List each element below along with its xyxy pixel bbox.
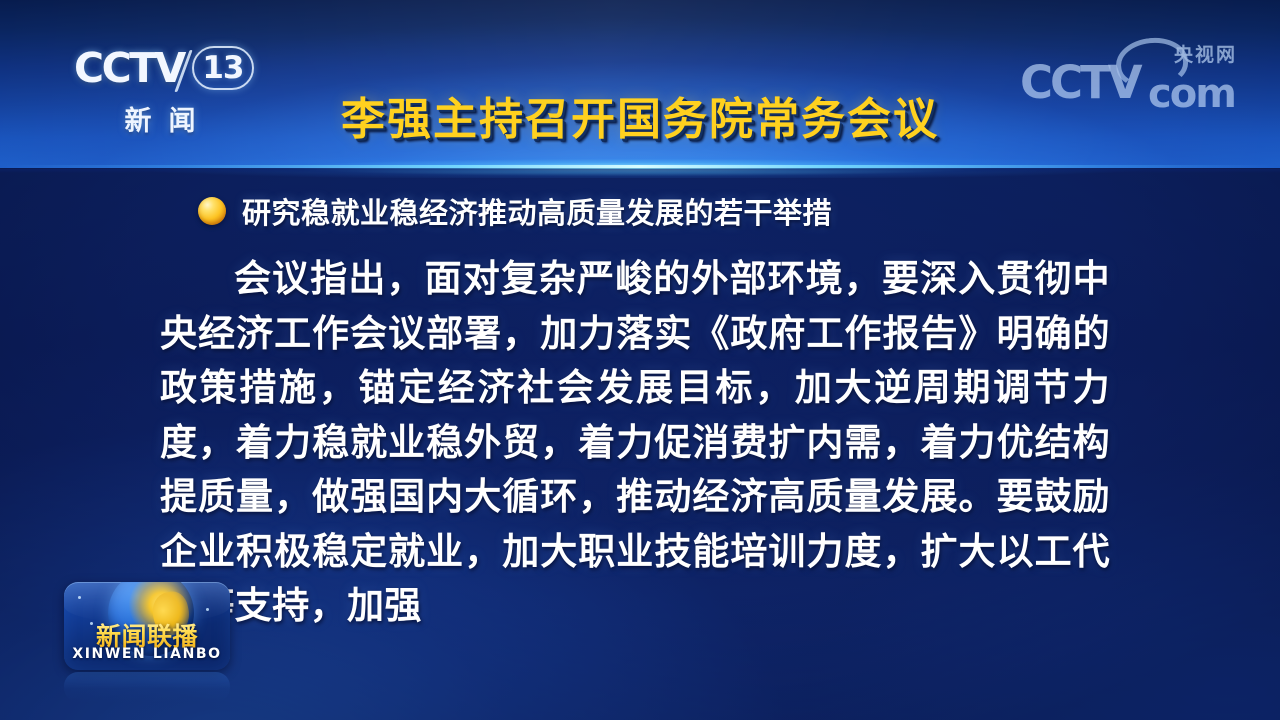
channel-number-badge: 13 bbox=[192, 46, 254, 90]
sparkle-icon bbox=[78, 596, 81, 599]
broadcast-frame: CCTV 13 新闻 CCTV 央视网 com 李强主持召开国务院常务会议 研究… bbox=[0, 0, 1280, 720]
gold-bullet-icon bbox=[198, 197, 226, 225]
cctv-wordmark: CCTV bbox=[74, 48, 184, 89]
cctv13-logo-row: CCTV 13 bbox=[74, 44, 274, 92]
headline-title: 李强主持召开国务院常务会议 bbox=[0, 95, 1280, 144]
sparkle-icon bbox=[206, 608, 209, 611]
body-paragraph: 会议指出，面对复杂严峻的外部环境，要深入贯彻中央经济工作会议部署，加力落实《政府… bbox=[160, 252, 1110, 634]
watermark-cn-name: 央视网 bbox=[1174, 46, 1237, 65]
subtitle-row: 研究稳就业稳经济推动高质量发展的若干举措 bbox=[198, 190, 832, 232]
subtitle-text: 研究稳就业稳经济推动高质量发展的若干举措 bbox=[242, 190, 832, 232]
program-pinyin: XINWEN LIANBO bbox=[64, 646, 230, 662]
channel-number: 13 bbox=[202, 50, 243, 86]
xinwen-lianbo-badge: 新闻联播 XINWEN LIANBO bbox=[64, 582, 230, 670]
